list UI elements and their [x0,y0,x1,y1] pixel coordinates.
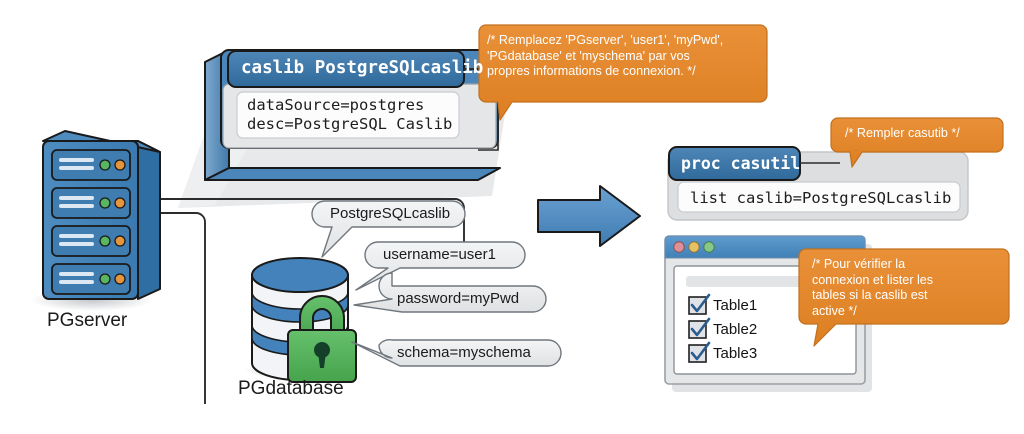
pill-schema-label: schema=myschema [397,344,531,361]
code-block-casutil-line-1: list caslib=PostgreSQLcaslib [690,189,951,207]
checkbox-label-table1: Table1 [713,297,757,314]
flow-arrow-right [538,186,640,246]
code-block-caslib-line-2: desc=PostgreSQL Caslib [247,115,452,133]
checkbox-label-table3: Table3 [713,345,757,362]
code-block-casutil-header: proc casutil [681,154,800,173]
code-block-caslib-line-1: dataSource=postgres [247,96,424,114]
diagram-canvas: caslib PostgreSQLcaslib dataSource=postg… [0,0,1024,434]
callout-verify-text: /* Pour vérifier la connexion et lister … [812,257,1002,319]
callout-replace-credentials-text: /* Remplacez 'PGserver', 'user1', 'myPwd… [487,33,759,80]
code-block-caslib-header: caslib PostgreSQLcaslib [241,58,483,78]
database-label: PGdatabase [238,378,344,400]
pill-password-label: password=myPwd [397,290,519,307]
pill-postgresqlcaslib-label: PostgreSQLcaslib [330,205,450,222]
checkbox-label-table2: Table2 [713,321,757,338]
callout-casutil-text: /* Rempler casutib */ [845,126,1000,142]
server-label: PGserver [47,310,127,332]
pill-username-label: username=user1 [383,246,496,263]
server-rack-icon [30,131,160,311]
